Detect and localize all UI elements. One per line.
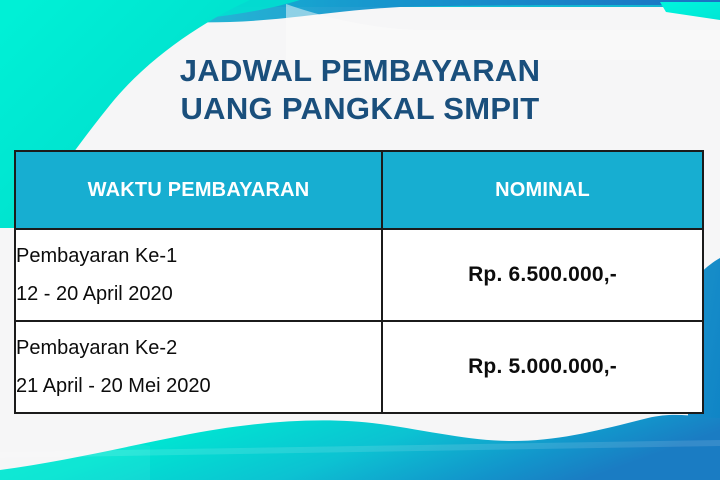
waktu-label: Pembayaran Ke-1 [16,246,381,266]
cell-waktu: Pembayaran Ke-2 21 April - 20 Mei 2020 [15,321,382,413]
waktu-date-range: 12 - 20 April 2020 [16,284,381,304]
waktu-label: Pembayaran Ke-2 [16,338,381,358]
page-title: JADWAL PEMBAYARAN UANG PANGKAL SMPIT [0,52,720,128]
cell-nominal: Rp. 5.000.000,- [382,321,703,413]
slide-content: JADWAL PEMBAYARAN UANG PANGKAL SMPIT WAK… [0,0,720,480]
title-line-1: JADWAL PEMBAYARAN [0,52,720,90]
table-row: Pembayaran Ke-2 21 April - 20 Mei 2020 R… [15,321,703,413]
table-header: WAKTU PEMBAYARAN NOMINAL [15,151,703,229]
table-row: Pembayaran Ke-1 12 - 20 April 2020 Rp. 6… [15,229,703,321]
waktu-date-range: 21 April - 20 Mei 2020 [16,376,381,396]
title-line-2: UANG PANGKAL SMPIT [0,90,720,128]
column-header-waktu: WAKTU PEMBAYARAN [15,151,382,229]
cell-nominal: Rp. 6.500.000,- [382,229,703,321]
payment-schedule-table: WAKTU PEMBAYARAN NOMINAL Pembayaran Ke-1… [14,150,704,414]
slide-canvas: JADWAL PEMBAYARAN UANG PANGKAL SMPIT WAK… [0,0,720,480]
cell-waktu: Pembayaran Ke-1 12 - 20 April 2020 [15,229,382,321]
table-body: Pembayaran Ke-1 12 - 20 April 2020 Rp. 6… [15,229,703,413]
table-header-row: WAKTU PEMBAYARAN NOMINAL [15,151,703,229]
column-header-nominal: NOMINAL [382,151,703,229]
